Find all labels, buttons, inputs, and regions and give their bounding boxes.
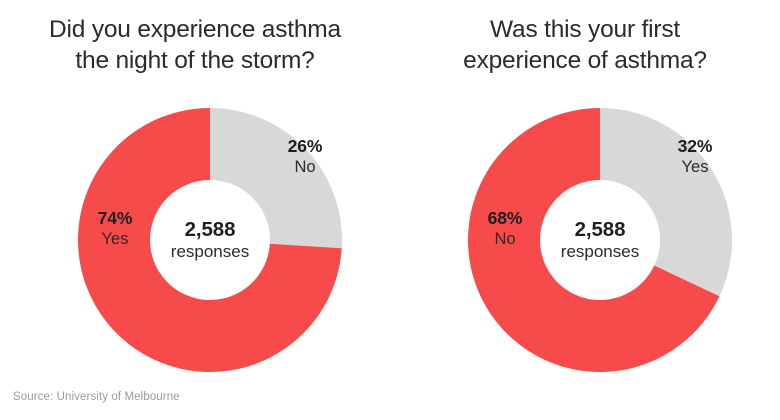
donut-svg-1 (78, 108, 342, 372)
donut-slices-2 (468, 108, 732, 372)
chart-panel-2: Was this your first experience of asthma… (390, 0, 780, 400)
donut-chart-2: 68% No 32% Yes 2,588 responses (468, 108, 732, 372)
donut-svg-2 (468, 108, 732, 372)
infographic-canvas: Did you experience asthma the night of t… (0, 0, 780, 420)
donut-slice-no[interactable] (210, 108, 342, 248)
donut-slice-yes[interactable] (600, 108, 732, 296)
chart-title-2: Was this your first experience of asthma… (400, 14, 770, 76)
donut-slices-1 (78, 108, 342, 372)
donut-chart-1: 74% Yes 26% No 2,588 responses (78, 108, 342, 372)
source-note: Source: University of Melbourne (13, 391, 180, 403)
chart-title-1: Did you experience asthma the night of t… (10, 14, 380, 76)
chart-panel-1: Did you experience asthma the night of t… (0, 0, 390, 400)
